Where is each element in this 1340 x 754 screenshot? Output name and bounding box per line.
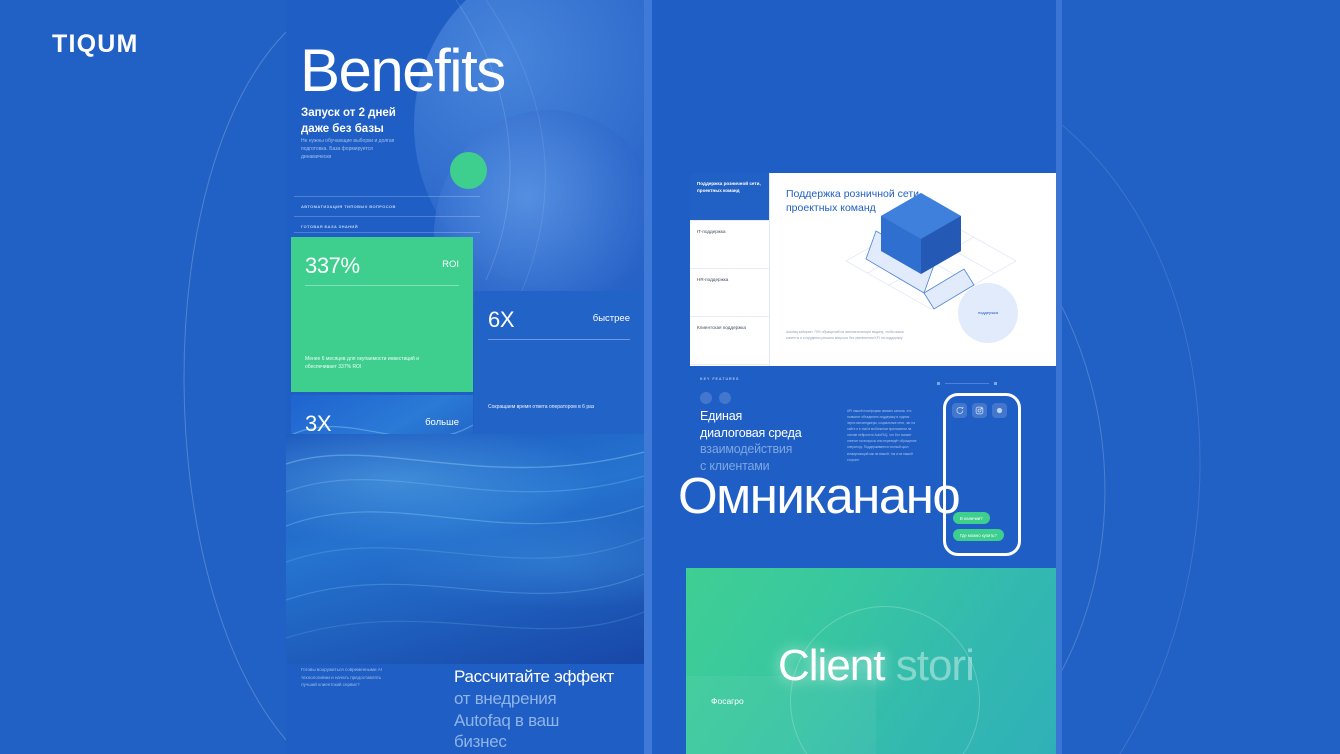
card-rule (488, 339, 630, 340)
stat-number: 6X (488, 307, 514, 333)
chat-bubble-1: В наличии? (953, 512, 990, 524)
stat-description: Сокращаем время ответа оператором в 6 ра… (488, 403, 606, 411)
cta-line-dim-3: бизнес (454, 732, 507, 751)
stat-card-roi[interactable]: 337% ROI Менее 6 месяцев для окупаемости… (291, 237, 473, 392)
wave-lines (286, 434, 644, 664)
pager-line (945, 383, 989, 384)
pager-dot-1[interactable] (937, 382, 940, 385)
divider-rule (294, 232, 480, 233)
brand-logo[interactable]: TIQUM (52, 30, 139, 59)
chat-bubbles: В наличии? Где можно купить? (953, 512, 1004, 541)
divider-rule (294, 196, 480, 197)
stat-number: 337% (305, 253, 360, 279)
support-card-text: Autofaq забирает 70% обращений на автома… (786, 330, 904, 342)
phone-mockup: В наличии? Где можно купить? (943, 393, 1021, 556)
client-stories-title: Client stori (778, 644, 974, 688)
support-card-body: Поддержка розничной сети, проектных кома… (770, 173, 1056, 366)
kf-line-2: диалоговая среда (700, 426, 801, 440)
page-title: Benefits (300, 42, 505, 99)
green-accent-circle (450, 152, 487, 189)
support-menu-item-client[interactable]: Клиентская поддержка (690, 317, 769, 365)
subtitle-line-2: даже без базы (301, 123, 384, 135)
stories-title-highlight: Client (778, 641, 885, 690)
stat-card-speed[interactable]: 6X быстрее Сокращаем время ответа операт… (474, 291, 644, 434)
phone-app-row (952, 403, 1007, 418)
support-menu-item-retail[interactable]: Поддержка розничной сети, проектных кома… (690, 173, 769, 221)
subtitle-line-1: Запуск от 2 дней (301, 107, 396, 119)
stat-tag: быстрее (593, 313, 630, 324)
panel-micro-text: Не нужны обучающие выборки и долгая подг… (301, 138, 401, 161)
client-stories-section: Client stori Фосагро (686, 568, 1056, 754)
benefits-panel: Benefits Запуск от 2 дней даже без базы … (286, 0, 644, 754)
feature-row-label-2: Готовая база знаний (301, 224, 358, 229)
key-features-title: Единая диалоговая среда взаимодействия с… (700, 408, 830, 474)
stat-description: Менее 6 месяцев для окупаемости инвестиц… (305, 355, 423, 372)
card-rule (305, 285, 459, 286)
product-panel: Поддержка розничной сети, проектных кома… (652, 0, 1056, 754)
support-menu: Поддержка розничной сети, проектных кома… (690, 173, 770, 366)
carousel-pager[interactable] (937, 379, 997, 387)
key-features-label: KEY FEATURES (700, 377, 739, 381)
stories-title-dim: stori (885, 641, 974, 690)
panel-right-edge (1056, 0, 1062, 754)
stat-tag: ROI (442, 259, 459, 270)
support-menu-item-it[interactable]: IT-поддержка (690, 221, 769, 269)
key-features-text: API нашей платформы связать каналы, это … (847, 408, 917, 463)
kf-line-3: взаимодействия (700, 442, 792, 456)
cta-line-highlight: Рассчитайте эффект (454, 667, 614, 686)
stat-tag: больше (425, 417, 459, 428)
cta-line-dim-2: Autofaq в ваш (454, 711, 559, 730)
page-subtitle: Запуск от 2 дней даже без базы (301, 106, 491, 137)
key-features-bullets (700, 392, 731, 404)
feature-row-label-1: Автоматизация типовых вопросов (301, 204, 396, 209)
svg-text:поддержка: поддержка (978, 310, 999, 315)
support-menu-item-hr[interactable]: HR-поддержка (690, 269, 769, 317)
panel-divider (644, 0, 652, 754)
cta-line-dim-1: от внедрения (454, 689, 556, 708)
kf-line-1: Единая (700, 409, 742, 423)
bullet-circle-1 (700, 392, 712, 404)
cta-heading: Рассчитайте эффект от внедрения Autofaq … (454, 666, 644, 753)
divider-rule (294, 216, 480, 217)
chat-bubble-2: Где можно купить? (953, 529, 1004, 541)
bullet-circle-2 (719, 392, 731, 404)
circle-app-icon[interactable] (992, 403, 1007, 418)
omnichannel-head-part: Омникана (678, 467, 906, 524)
support-card: Поддержка розничной сети, проектных кома… (690, 173, 1056, 366)
client-name: Фосагро (711, 696, 744, 706)
pager-dot-2[interactable] (994, 382, 997, 385)
instagram-icon[interactable] (972, 403, 987, 418)
chat-app-icon[interactable] (952, 403, 967, 418)
cta-micro-text: Готовы вооружиться современными AI техно… (301, 666, 386, 689)
